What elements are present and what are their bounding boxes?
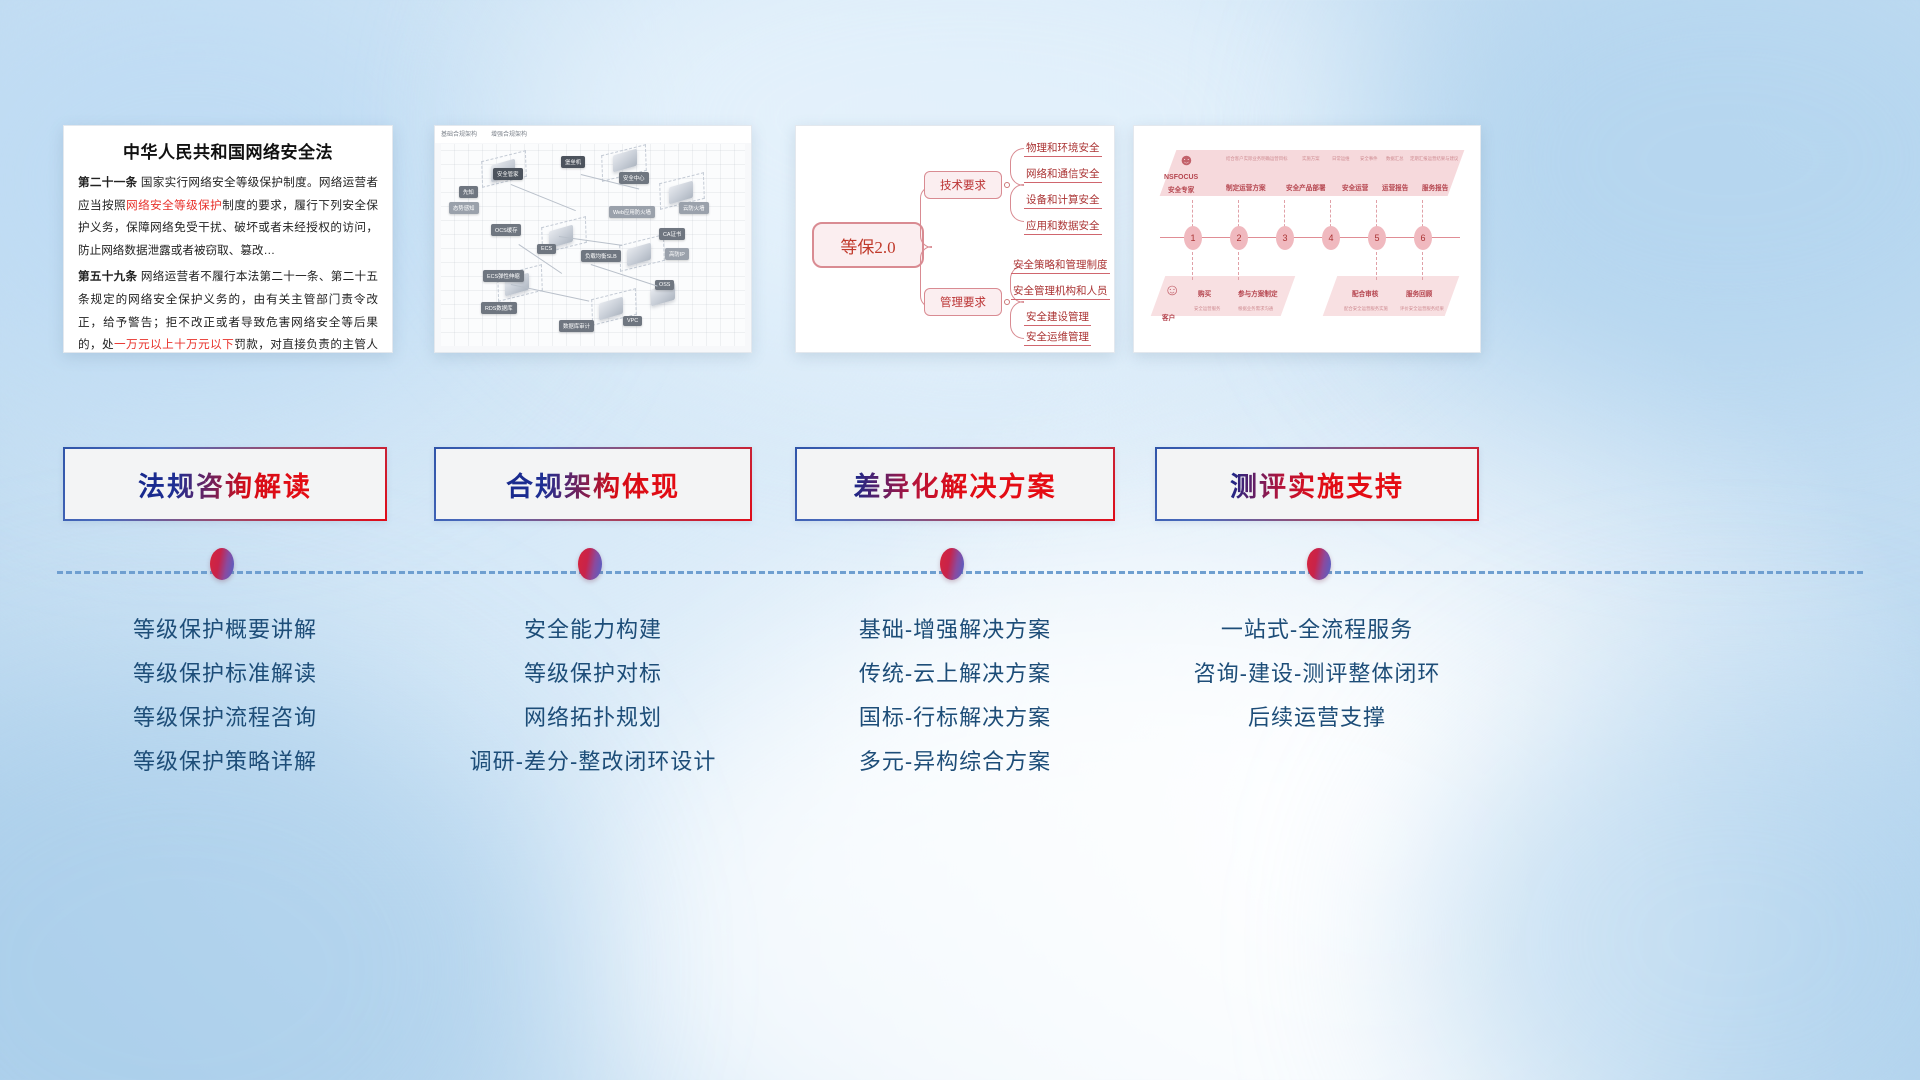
mindmap-leaf: 物理和环境安全	[1024, 140, 1102, 157]
service-top-subitem: 实施方案	[1302, 156, 1320, 162]
customer-role: 客户	[1162, 312, 1175, 322]
bullet-column-1: 等级保护概要讲解 等级保护标准解读 等级保护流程咨询 等级保护策略详解	[63, 608, 387, 784]
bullet-item: 等级保护策略详解	[63, 740, 387, 784]
expert-avatar-icon: ☻	[1178, 152, 1195, 170]
service-bottom-subitem: 评价安全运营服务结果	[1400, 306, 1444, 312]
architecture-canvas: 基础合规架构 增强合规架构	[435, 126, 751, 352]
law-title: 中华人民共和国网络安全法	[78, 138, 378, 163]
architecture-node-label: VPC	[623, 316, 642, 326]
architecture-node-label: 态势感知	[449, 202, 479, 214]
service-dashed-link	[1376, 252, 1377, 280]
law-text-block: 中华人民共和国网络安全法 第二十一条 国家实行网络安全等级保护制度。网络运营者应…	[64, 126, 392, 353]
service-top-subitem: 数据汇总	[1386, 156, 1404, 162]
service-bottom-subitem: 根据业务需求沟通	[1238, 306, 1273, 312]
mindmap-leaf: 安全建设管理	[1024, 309, 1091, 326]
architecture-node-label: 安全中心	[619, 172, 649, 184]
service-top-subitem: 日常运维	[1332, 156, 1350, 162]
bullet-item: 咨询-建设-测评整体闭环	[1155, 652, 1479, 696]
service-step-marker: 3	[1276, 226, 1294, 250]
service-bottom-item: 参与方案制定	[1238, 288, 1278, 298]
law-article-59-highlight-1: 一万元以上十万元以下	[114, 338, 234, 351]
bullet-item: 等级保护对标	[434, 652, 752, 696]
architecture-tab-basic: 基础合规架构	[441, 129, 477, 138]
service-top-item: 服务报告	[1422, 182, 1448, 192]
section-title-text-3: 差异化解决方案	[854, 465, 1057, 504]
architecture-tabbar	[435, 126, 751, 143]
architecture-node-label: 堡垒机	[561, 156, 585, 168]
progress-timeline	[0, 560, 1920, 584]
card-cybersecurity-law: 中华人民共和国网络安全法 第二十一条 国家实行网络安全等级保护制度。网络运营者应…	[63, 125, 393, 353]
law-article-21-label: 第二十一条	[78, 176, 137, 189]
mindmap-leaf: 安全运维管理	[1024, 329, 1091, 346]
card-service-timeline: ☻ NSFOCUS 安全专家 结合客户实际业务明确运营目标 实施方案 日常运维 …	[1133, 125, 1481, 353]
service-top-subitem: 安全事件	[1360, 156, 1378, 162]
service-step-marker: 6	[1414, 226, 1432, 250]
section-title-box-2[interactable]: 合规架构体现	[434, 447, 752, 521]
mindmap-leaf: 设备和计算安全	[1024, 192, 1102, 209]
service-dashed-link	[1422, 252, 1423, 280]
bullet-item: 等级保护概要讲解	[63, 608, 387, 652]
bullet-item: 国标-行标解决方案	[795, 696, 1115, 740]
bullet-item: 等级保护流程咨询	[63, 696, 387, 740]
architecture-node-label: CA证书	[659, 228, 685, 240]
law-article-21: 第二十一条 国家实行网络安全等级保护制度。网络运营者应当按照网络安全等级保护制度…	[78, 172, 378, 262]
architecture-node-label: ECS弹性伸缩	[483, 270, 524, 282]
section-title-text-1: 法规咨询解读	[138, 465, 312, 504]
architecture-node-label: 云防火墙	[679, 202, 709, 214]
service-top-item: 安全产品部署	[1286, 182, 1326, 192]
mindmap-connector-dot	[1004, 182, 1010, 188]
service-dashed-link	[1238, 252, 1239, 280]
service-top-item: 制定运营方案	[1226, 182, 1266, 192]
expert-brand: NSFOCUS	[1164, 174, 1198, 181]
law-article-59-label: 第五十九条	[78, 270, 137, 283]
service-bottom-item: 购买	[1198, 288, 1211, 298]
expert-role: 安全专家	[1168, 184, 1194, 194]
mindmap-curve	[1010, 148, 1024, 186]
mindmap-leaf: 安全策略和管理制度	[1011, 257, 1110, 274]
bullet-item: 网络拓扑规划	[434, 696, 752, 740]
mindmap-curve	[1010, 301, 1024, 339]
bullet-item: 多元-异构综合方案	[795, 740, 1115, 784]
bullet-item: 后续运营支撑	[1155, 696, 1479, 740]
customer-avatar-icon: ☺	[1164, 282, 1180, 300]
bullet-column-3: 基础-增强解决方案 传统-云上解决方案 国标-行标解决方案 多元-异构综合方案	[795, 608, 1115, 784]
service-step-marker: 5	[1368, 226, 1386, 250]
bullet-item: 调研-差分-整改闭环设计	[434, 740, 752, 784]
image-card-row: 中华人民共和国网络安全法 第二十一条 国家实行网络安全等级保护制度。网络运营者应…	[0, 125, 1920, 365]
bullet-item: 等级保护标准解读	[63, 652, 387, 696]
bullet-item: 传统-云上解决方案	[795, 652, 1115, 696]
section-title-box-3[interactable]: 差异化解决方案	[795, 447, 1115, 521]
architecture-connector	[511, 184, 576, 211]
service-dashed-link	[1192, 252, 1193, 280]
mindmap-connector-dot	[1004, 299, 1010, 305]
section-title-row: 法规咨询解读 合规架构体现 差异化解决方案 测评实施支持	[0, 447, 1920, 521]
mindmap-root-node: 等保2.0	[812, 222, 924, 268]
timeline-node-1[interactable]	[210, 548, 234, 580]
mindmap-branch-technical: 技术要求	[924, 171, 1002, 199]
service-bottom-subitem: 安全运营服务	[1194, 306, 1220, 312]
law-article-59: 第五十九条 网络运营者不履行本法第二十一条、第二十五条规定的网络安全保护义务的，…	[78, 266, 378, 353]
mindmap-canvas: 等保2.0 技术要求 管理要求 物理和环境安全 网络和通信安全 设备和计算安全 …	[796, 126, 1114, 352]
section-title-text-2: 合规架构体现	[506, 465, 680, 504]
service-timeline-canvas: ☻ NSFOCUS 安全专家 结合客户实际业务明确运营目标 实施方案 日常运维 …	[1134, 126, 1480, 352]
slide-stage: 中华人民共和国网络安全法 第二十一条 国家实行网络安全等级保护制度。网络运营者应…	[0, 0, 1920, 1080]
architecture-node-label: ECS	[537, 244, 556, 254]
timeline-node-2[interactable]	[578, 548, 602, 580]
card-architecture-diagram: 基础合规架构 增强合规架构	[434, 125, 752, 353]
bullet-item: 安全能力构建	[434, 608, 752, 652]
service-step-marker: 2	[1230, 226, 1248, 250]
service-bottom-item: 配合审核	[1352, 288, 1378, 298]
mindmap-leaf: 应用和数据安全	[1024, 218, 1102, 235]
service-top-subitem: 定期汇报运营结果与建议	[1410, 156, 1458, 162]
mindmap-branch-management: 管理要求	[924, 288, 1002, 316]
mindmap-leaf: 网络和通信安全	[1024, 166, 1102, 183]
mindmap-curve	[1010, 184, 1024, 222]
service-step-marker: 4	[1322, 226, 1340, 250]
architecture-node-label: 数据库审计	[559, 320, 594, 332]
bullet-column-4: 一站式-全流程服务 咨询-建设-测评整体闭环 后续运营支撑	[1155, 608, 1479, 740]
bullet-column-2: 安全能力构建 等级保护对标 网络拓扑规划 调研-差分-整改闭环设计	[434, 608, 752, 784]
architecture-node-label: OSS	[655, 280, 674, 290]
architecture-node-label: OCS缓存	[491, 224, 521, 236]
bullet-item: 基础-增强解决方案	[795, 608, 1115, 652]
bullet-item: 一站式-全流程服务	[1155, 608, 1479, 652]
timeline-node-3[interactable]	[940, 548, 964, 580]
card-mindmap: 等保2.0 技术要求 管理要求 物理和环境安全 网络和通信安全 设备和计算安全 …	[795, 125, 1115, 353]
architecture-node-label: 先知	[459, 186, 478, 198]
architecture-node-label: RDS数据库	[481, 302, 517, 314]
service-top-item: 运营报告	[1382, 182, 1408, 192]
service-step-marker: 1	[1184, 226, 1202, 250]
law-article-21-highlight: 网络安全等级保护	[126, 199, 222, 212]
service-top-subitem: 结合客户实际业务明确运营目标	[1226, 156, 1287, 162]
timeline-node-4[interactable]	[1307, 548, 1331, 580]
section-title-box-4[interactable]: 测评实施支持	[1155, 447, 1479, 521]
architecture-node-label: Web应用防火墙	[609, 206, 655, 218]
mindmap-leaf: 安全管理机构和人员	[1011, 283, 1110, 300]
architecture-tab-enhanced: 增强合规架构	[491, 129, 527, 138]
architecture-node-label: 高防IP	[665, 248, 689, 260]
section-title-box-1[interactable]: 法规咨询解读	[63, 447, 387, 521]
architecture-grid: 安全管家 先知 态势感知 堡垒机 安全中心 云防火墙 OCS缓存 ECS 负载均…	[441, 144, 745, 346]
service-bottom-subitem: 配合安全运营服务实施	[1344, 306, 1388, 312]
architecture-node-label: 负载均衡SLB	[581, 250, 621, 262]
section-title-text-4: 测评实施支持	[1230, 465, 1404, 504]
service-top-item: 安全运营	[1342, 182, 1368, 192]
architecture-node-label: 安全管家	[493, 168, 523, 180]
service-bottom-item: 服务回顾	[1406, 288, 1432, 298]
